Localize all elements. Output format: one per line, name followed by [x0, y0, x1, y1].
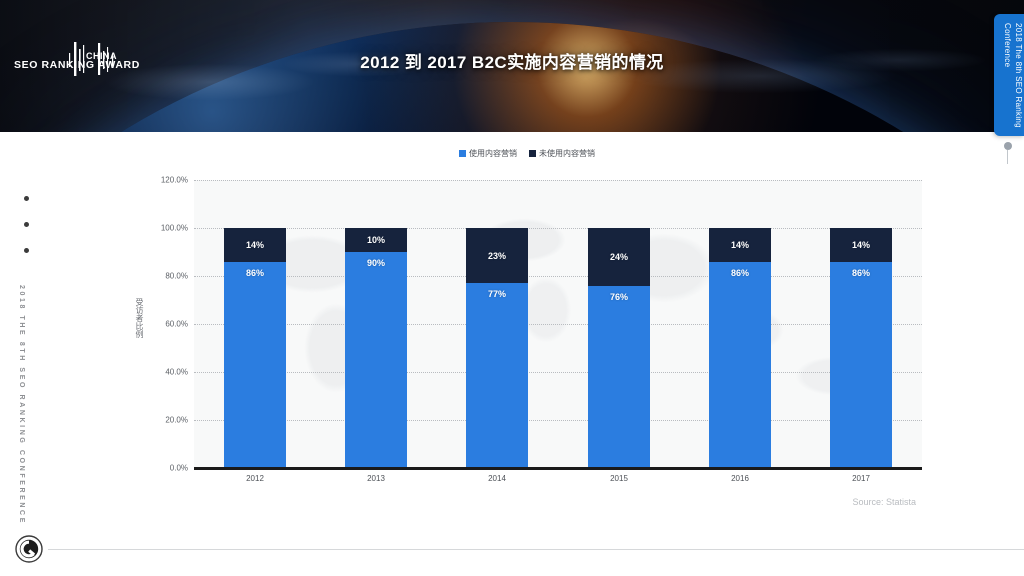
bar-value-label: 14%: [709, 240, 771, 250]
bar-value-label: 86%: [224, 268, 286, 278]
bar-segment-not-used[interactable]: 24%: [588, 228, 650, 286]
x-axis-tick-label: 2015: [588, 474, 650, 483]
chart-container: 使用内容营销 未使用内容营销 受访者比例 14%86%10%90%23%77%2…: [132, 148, 922, 518]
gridline: [194, 372, 922, 373]
bar-segment-used[interactable]: 76%: [588, 286, 650, 468]
y-axis-title: 受访者比例: [134, 298, 145, 338]
footer-divider: [48, 549, 1024, 550]
gridline: [194, 420, 922, 421]
svg-text:SEO RANKING AWARD: SEO RANKING AWARD: [14, 59, 140, 71]
x-axis-tick-label: 2014: [466, 474, 528, 483]
bar-segment-not-used[interactable]: 10%: [345, 228, 407, 252]
gridline: [194, 180, 922, 181]
china-seo-ranking-award-logo: CHINA SEO RANKING AWARD: [12, 40, 152, 78]
bar-segment-used[interactable]: 77%: [466, 283, 528, 468]
side-tab-pin-icon: [1004, 142, 1012, 150]
bar-value-label: 86%: [830, 268, 892, 278]
bar-value-label: 10%: [345, 235, 407, 245]
plot-area: 14%86%10%90%23%77%24%76%14%86%14%86%: [194, 180, 922, 468]
bar-value-label: 23%: [466, 251, 528, 261]
y-axis-tick-label: 20.0%: [165, 416, 188, 425]
left-vertical-conference-label: 2018 THE 8TH SEO RANKING CONFERENCE: [18, 285, 25, 525]
bar-column[interactable]: 10%90%: [345, 228, 407, 468]
y-axis-tick-label: 120.0%: [161, 176, 188, 185]
x-axis-line: [194, 467, 922, 470]
legend-swatch-used: [459, 150, 466, 157]
gridline: [194, 276, 922, 277]
bar-value-label: 77%: [466, 289, 528, 299]
y-axis-tick-label: 40.0%: [165, 368, 188, 377]
bar-segment-not-used[interactable]: 14%: [709, 228, 771, 262]
bar-column[interactable]: 23%77%: [466, 228, 528, 468]
bar-segment-not-used[interactable]: 23%: [466, 228, 528, 283]
legend-label-not-used: 未使用内容营销: [539, 149, 595, 158]
legend-item-used[interactable]: 使用内容营销: [459, 148, 517, 159]
y-axis-tick-label: 0.0%: [170, 464, 188, 473]
x-axis-tick-label: 2016: [709, 474, 771, 483]
q-circle-icon: [14, 534, 44, 564]
bar-segment-used[interactable]: 86%: [224, 262, 286, 468]
bar-column[interactable]: 14%86%: [830, 228, 892, 468]
bar-value-label: 14%: [224, 240, 286, 250]
gridline: [194, 324, 922, 325]
logo-mark-icon: CHINA SEO RANKING AWARD: [12, 40, 152, 78]
dot-icon: [24, 196, 29, 201]
conference-side-tab-label: 2018 The 8th SEO Ranking Conference: [994, 14, 1024, 136]
y-axis-tick-label: 80.0%: [165, 272, 188, 281]
legend-label-used: 使用内容营销: [469, 149, 517, 158]
x-axis-tick-label: 2012: [224, 474, 286, 483]
bar-value-label: 90%: [345, 258, 407, 268]
bar-segment-not-used[interactable]: 14%: [224, 228, 286, 262]
bar-value-label: 24%: [588, 252, 650, 262]
chart-source-note: Source: Statista: [132, 497, 922, 507]
x-axis-tick-label: 2017: [830, 474, 892, 483]
chart-legend: 使用内容营销 未使用内容营销: [132, 148, 922, 159]
bar-value-label: 14%: [830, 240, 892, 250]
y-axis-tick-label: 100.0%: [161, 224, 188, 233]
bottom-circular-logo: [14, 534, 44, 564]
bar-segment-not-used[interactable]: 14%: [830, 228, 892, 262]
bar-column[interactable]: 24%76%: [588, 228, 650, 468]
bar-segment-used[interactable]: 86%: [709, 262, 771, 468]
bar-value-label: 86%: [709, 268, 771, 278]
dot-icon: [24, 248, 29, 253]
bar-segment-used[interactable]: 90%: [345, 252, 407, 468]
bar-segment-used[interactable]: 86%: [830, 262, 892, 468]
x-axis-tick-label: 2013: [345, 474, 407, 483]
gridline: [194, 228, 922, 229]
left-dot-decoration: [24, 196, 29, 274]
y-axis-tick-label: 60.0%: [165, 320, 188, 329]
conference-side-tab[interactable]: 2018 The 8th SEO Ranking Conference: [994, 14, 1024, 136]
slide-title: 2012 到 2017 B2C实施内容营销的情况: [0, 48, 1024, 73]
bar-value-label: 76%: [588, 292, 650, 302]
dot-icon: [24, 222, 29, 227]
bar-column[interactable]: 14%86%: [709, 228, 771, 468]
legend-swatch-not-used: [529, 150, 536, 157]
legend-item-not-used[interactable]: 未使用内容营销: [529, 148, 595, 159]
bar-column[interactable]: 14%86%: [224, 228, 286, 468]
